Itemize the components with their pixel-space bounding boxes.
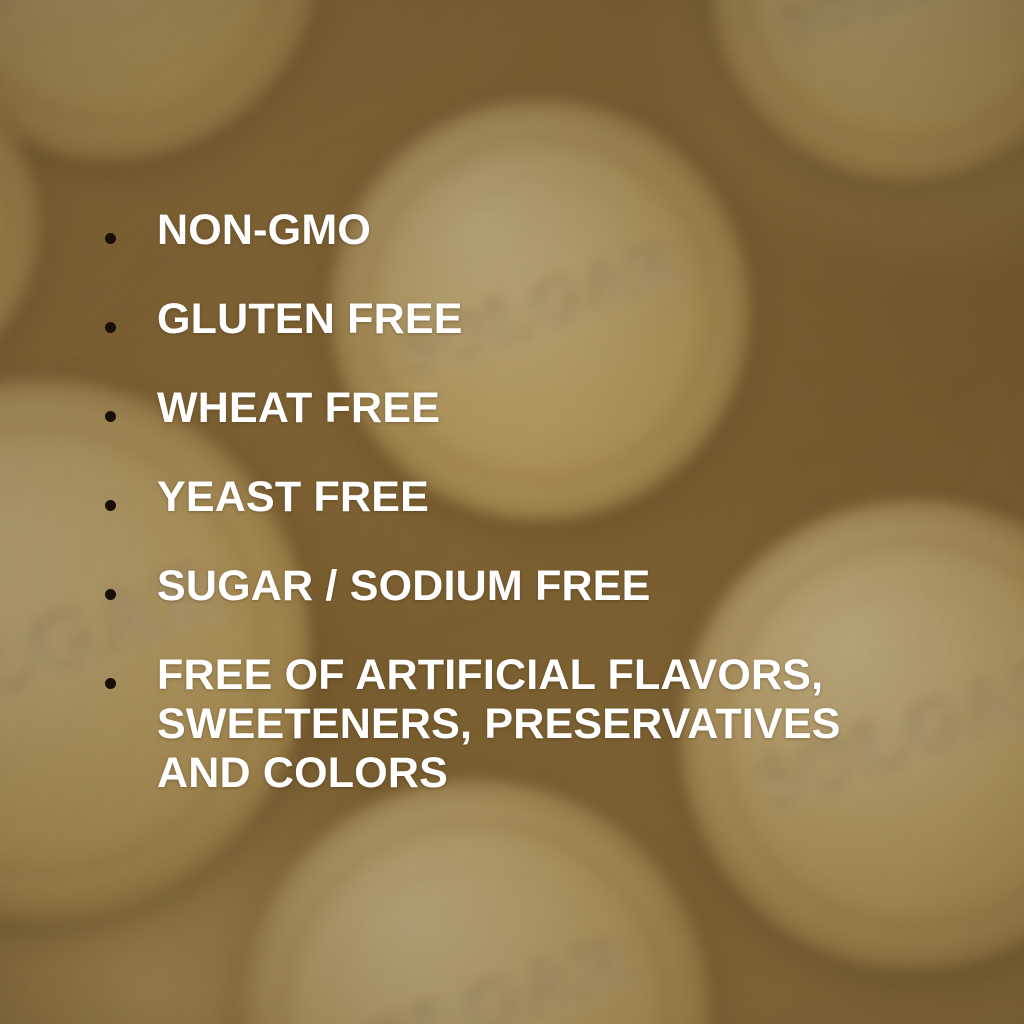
benefit-item-sugar-sodium-free: SUGAR / SODIUM FREE — [105, 562, 905, 611]
bullet-icon — [105, 411, 116, 422]
benefit-label: YEAST FREE — [157, 473, 429, 522]
cap-swoosh-line — [772, 0, 1024, 21]
cap-swoosh-line — [315, 938, 634, 1024]
benefit-label: GLUTEN FREE — [157, 295, 463, 344]
bullet-icon — [105, 322, 116, 333]
bullet-icon — [105, 233, 116, 244]
benefit-label: WHEAT FREE — [157, 384, 440, 433]
benefit-item-gluten-free: GLUTEN FREE — [105, 295, 905, 344]
benefit-item-yeast-free: YEAST FREE — [105, 473, 905, 522]
solgar-wordmark-emboss: SOLGAR — [772, 0, 1024, 61]
benefit-label: NON-GMO — [157, 206, 371, 255]
benefit-item-non-gmo: NON-GMO — [105, 206, 905, 255]
solgar-wordmark-emboss: SOLGAR — [305, 919, 644, 1024]
bullet-icon — [105, 500, 116, 511]
benefit-label: FREE OF ARTIFICIAL FLAVORS, SWEETENERS, … — [157, 651, 841, 798]
benefit-label: SUGAR / SODIUM FREE — [157, 562, 651, 611]
benefit-item-wheat-free: WHEAT FREE — [105, 384, 905, 433]
benefit-item-free-of-artificial: FREE OF ARTIFICIAL FLAVORS, SWEETENERS, … — [105, 651, 905, 798]
benefits-list: NON-GMO GLUTEN FREE WHEAT FREE YEAST FRE… — [105, 206, 905, 798]
bullet-icon — [105, 589, 116, 600]
bullet-icon — [105, 678, 116, 689]
marketing-image: SOLGAR SOLGAR SOLGAR SOLGAR SOLGAR SOLGA… — [0, 0, 1024, 1024]
solgar-wordmark-emboss: SOLGAR — [0, 0, 252, 31]
